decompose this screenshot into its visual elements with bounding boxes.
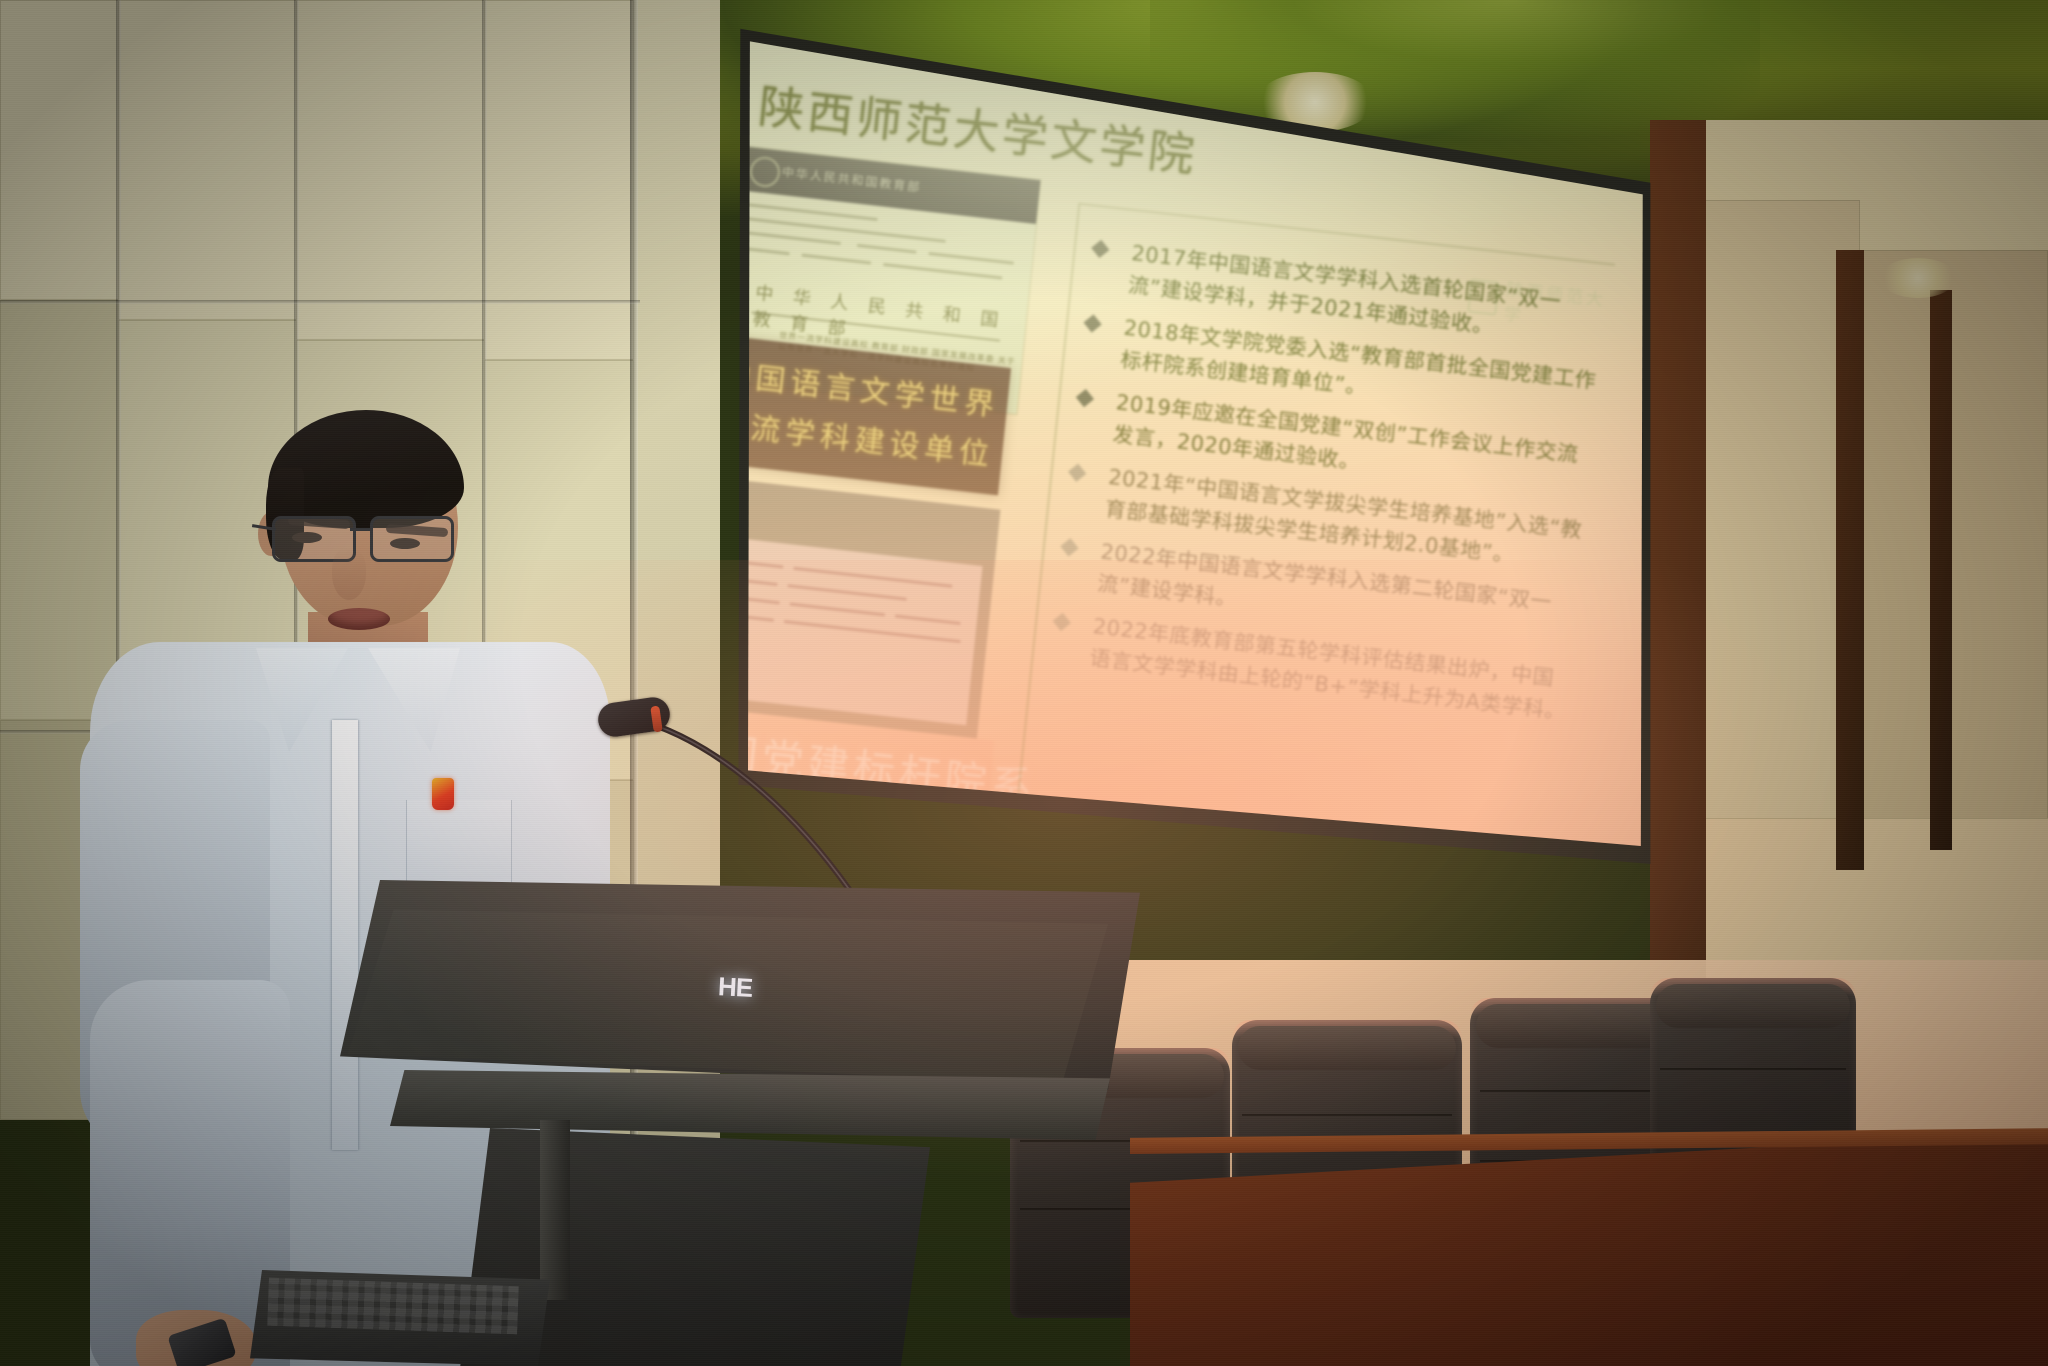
ceiling-downlight-icon [1880, 258, 1956, 298]
slide-content: 陕西师范大学文学院 中华人民共和国教育部 中 华 人 民 共 和 国 教 [700, 0, 1654, 900]
wood-trim-column [1836, 250, 1864, 870]
wall-tile [118, 0, 298, 320]
document-seal-icon [711, 487, 737, 514]
lectern-brand-logo: HE [717, 971, 753, 1004]
diamond-bullet-icon [1060, 538, 1078, 556]
wood-trim-column [1930, 290, 1952, 850]
lens-right [370, 516, 454, 562]
projection-screen: 陕西师范大学文学院 中华人民共和国教育部 中 华 人 民 共 和 国 教 [700, 0, 1700, 920]
lectern-post [540, 1120, 570, 1300]
glasses-bridge [350, 528, 372, 531]
document-page [716, 538, 983, 726]
diamond-bullet-icon [1083, 314, 1101, 332]
eyeglasses [266, 514, 466, 560]
diamond-bullet-icon [1091, 240, 1109, 258]
wall-tile [484, 0, 634, 360]
laptop-keyboard [267, 1278, 519, 1335]
nose [332, 548, 366, 600]
diamond-bullet-icon [1053, 613, 1071, 631]
wall-tile [296, 0, 486, 340]
wall-grout [0, 300, 640, 304]
national-emblem-icon [748, 155, 781, 188]
photo-scene: 陕西师范大学文学院 中华人民共和国教育部 中 华 人 民 共 和 国 教 [0, 0, 2048, 1366]
wall-tile-right [1858, 250, 2048, 850]
wall-tile [0, 0, 120, 300]
slide-bullet-list: 2017年中国语言文学学科入选首轮国家“双一流”建设学科，并于2021年通过验收… [1013, 203, 1615, 900]
diamond-bullet-icon [1068, 464, 1086, 482]
diamond-bullet-icon [1076, 389, 1094, 407]
mouth [328, 608, 390, 630]
screen-surface: 陕西师范大学文学院 中华人民共和国教育部 中 华 人 民 共 和 国 教 [700, 0, 1660, 900]
party-emblem-badge-icon [432, 778, 454, 810]
certificate-header-text: 中华人民共和国教育部 [781, 163, 922, 196]
